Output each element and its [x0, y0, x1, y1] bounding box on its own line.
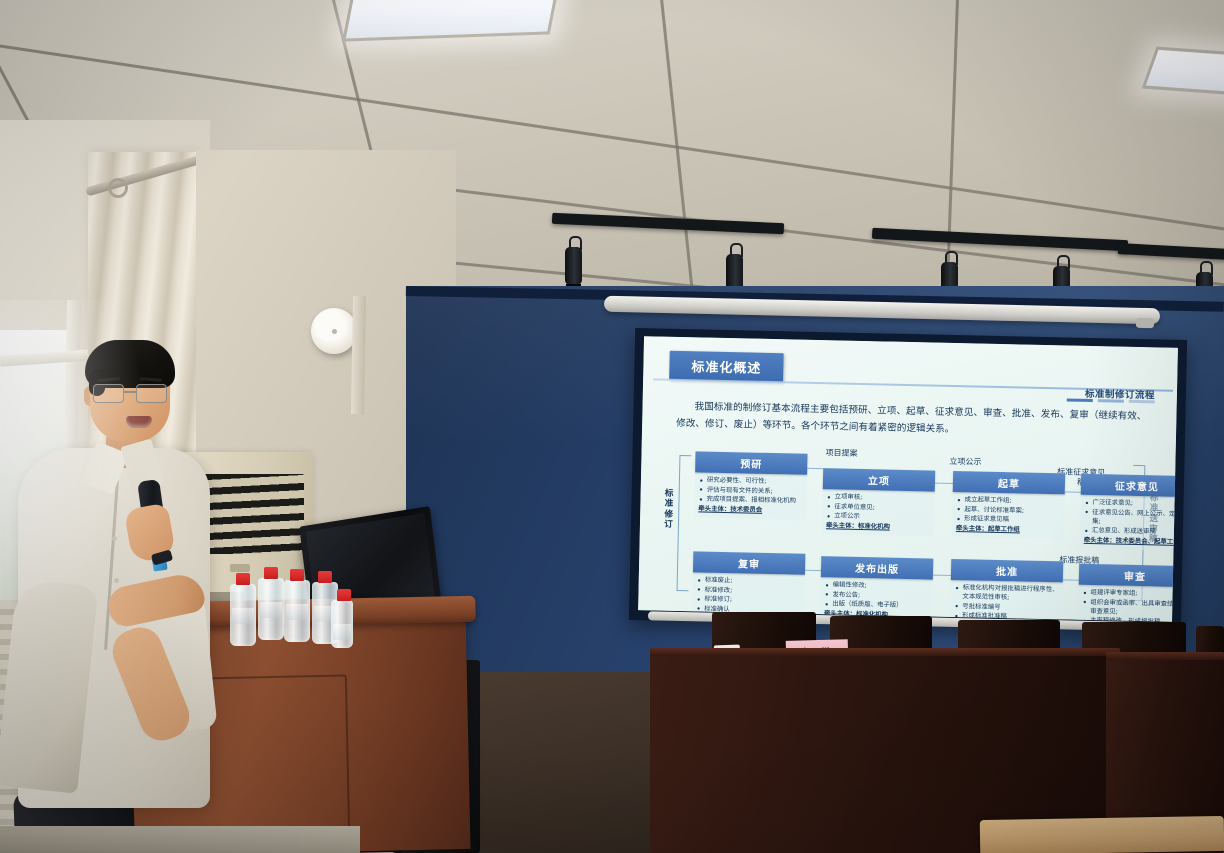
flow-node-owner: 牵头主体：技术委员会、起草工作组 — [1084, 536, 1178, 547]
flow-node-title: 复审 — [693, 551, 805, 574]
lens — [136, 384, 167, 403]
flow-node-body: 标准化机构对报批稿进行程序性、文本规范性审核; 号批标准编号 形成标准批准稿 牵… — [950, 580, 1063, 622]
wooden-desk-foreground — [980, 816, 1224, 853]
flow-node: 审查 组建评审专家组; 组织会审或函审、出具审查结论和审查意见; 主审稿修改、形… — [1078, 564, 1178, 622]
flow-node-bullets: 成立起草工作组; 起草、讨论标准草案; 形成征求意见稿 — [956, 495, 1061, 526]
spotlight-fixture — [565, 247, 582, 285]
flow-node-body: 组建评审专家组; 组织会审或函审、出具审查结论和审查意见; 主审稿修改、形成报批… — [1078, 585, 1178, 622]
presentation-slide: 标准化概述 标准制修订流程 我国标准的制修订基本流程主要包括预研、立项、起草、征… — [638, 336, 1178, 622]
flow-node-body: 立项审核; 征求单位意见; 立项公示 牵头主体：标准化机构 — [822, 489, 935, 537]
ceiling-light-panel — [1142, 47, 1224, 96]
flow-node-bullet: 标准化机构对报批稿进行程序性、文本规范性审核; — [954, 583, 1058, 603]
flow-connector-label: 立项公示 — [935, 457, 995, 468]
shirt-button — [114, 578, 119, 583]
flow-node-bullets: 立项审核; 征求单位意见; 立项公示 — [826, 492, 931, 523]
flow-diagram: 标准修订 标准送审稿 项目提案 立项公示 标准征求意见稿 标准报批稿 预 — [660, 443, 1161, 614]
flow-left-label: 标准修订 — [662, 489, 676, 531]
flow-node-title: 立项 — [823, 468, 935, 491]
flow-node-bullet: 征求意见公告、网上公示、定向征集; — [1084, 507, 1178, 527]
flow-node-title: 预研 — [695, 451, 807, 474]
flow-node-owner: 牵头主体：技术委员会 — [698, 505, 802, 516]
wall-trim — [351, 296, 366, 414]
flow-node-title: 起草 — [953, 471, 1065, 494]
eyeglasses-icon — [92, 384, 170, 404]
flow-node-bullets: 编辑性修改; 发布公告; 出版（纸质版、电子版） — [824, 580, 929, 611]
flow-node-bullets: 组建评审专家组; 组织会审或函审、出具审查结论和审查意见; 主审稿修改、形成报批… — [1082, 588, 1178, 622]
flow-node-bullets: 广泛征求意见; 征求意见公告、网上公示、定向征集; 汇总意见、形成送审稿 — [1084, 498, 1178, 538]
flow-node-title: 批准 — [951, 559, 1063, 582]
wall-speaker-icon — [311, 308, 357, 354]
flow-node-title: 发布出版 — [821, 556, 933, 579]
water-bottle — [258, 578, 284, 640]
flow-node: 起草 成立起草工作组; 起草、讨论标准草案; 形成征求意见稿 牵头主体：起草工作… — [952, 471, 1065, 540]
slide-paragraph: 我国标准的制修订基本流程主要包括预研、立项、起草、征求意见、审查、批准、发布、复… — [676, 399, 1147, 443]
floor-edge-left — [0, 826, 360, 853]
slide-kicker-dashes — [1067, 398, 1155, 403]
flow-node-bullets: 标准废止; 标准修改; 标准修订; 标准确认 — [696, 575, 801, 615]
shirt-button — [112, 536, 117, 541]
desk-top-edge — [650, 648, 1120, 656]
lens — [93, 384, 124, 403]
flow-node-body: 成立起草工作组; 起草、讨论标准草案; 形成征求意见稿 牵头主体：起草工作组 — [952, 492, 1065, 540]
projection-screen: 标准化概述 标准制修订流程 我国标准的制修订基本流程主要包括预研、立项、起草、征… — [629, 328, 1187, 632]
flow-node: 立项 立项审核; 征求单位意见; 立项公示 牵头主体：标准化机构 — [822, 468, 935, 537]
flow-node: 征求意见 广泛征求意见; 征求意见公告、网上公示、定向征集; 汇总意见、形成送审… — [1080, 474, 1178, 552]
flow-left-bracket — [677, 455, 692, 591]
flow-node-bullets: 研究必要性、可行性; 评估与现有文件的关系; 完成项目提案、报相标准化机构 — [698, 475, 803, 506]
desk-top-edge — [1106, 652, 1224, 660]
conference-room-photo: 标准化概述 标准制修订流程 我国标准的制修订基本流程主要包括预研、立项、起草、征… — [0, 0, 1224, 853]
flow-node: 发布出版 编辑性修改; 发布公告; 出版（纸质版、电子版） 牵头主体：标准化机构 — [820, 556, 933, 622]
flow-node-body: 广泛征求意见; 征求意见公告、网上公示、定向征集; 汇总意见、形成送审稿 牵头主… — [1080, 495, 1178, 552]
screen-pull-knob[interactable] — [1136, 318, 1154, 328]
flow-node-owner: 牵头主体：标准化机构 — [826, 522, 930, 533]
water-bottle — [331, 600, 353, 648]
flow-connector-label: 项目提案 — [811, 448, 871, 459]
mouth — [126, 416, 152, 428]
flow-node-body: 研究必要性、可行性; 评估与现有文件的关系; 完成项目提案、报相标准化机构 牵头… — [694, 472, 807, 520]
flow-node: 批准 标准化机构对报批稿进行程序性、文本规范性审核; 号批标准编号 形成标准批准… — [950, 559, 1064, 622]
flow-node-owner: 牵头主体：起草工作组 — [956, 524, 1060, 535]
flow-node-title: 审查 — [1079, 564, 1178, 587]
water-bottle — [284, 580, 310, 642]
screen-surface: 标准化概述 标准制修订流程 我国标准的制修订基本流程主要包括预研、立项、起草、征… — [638, 336, 1178, 622]
flow-node-bullet: 组织会审或函审、出具审查结论和审查意见; — [1082, 597, 1178, 617]
glasses-bridge — [124, 391, 136, 393]
flow-node: 预研 研究必要性、可行性; 评估与现有文件的关系; 完成项目提案、报相标准化机构… — [694, 451, 807, 520]
flow-node-bullets: 标准化机构对报批稿进行程序性、文本规范性审核; 号批标准编号 形成标准批准稿 — [954, 583, 1059, 622]
flow-node-title: 征求意见 — [1081, 474, 1178, 497]
slide-title: 标准化概述 — [669, 351, 784, 382]
